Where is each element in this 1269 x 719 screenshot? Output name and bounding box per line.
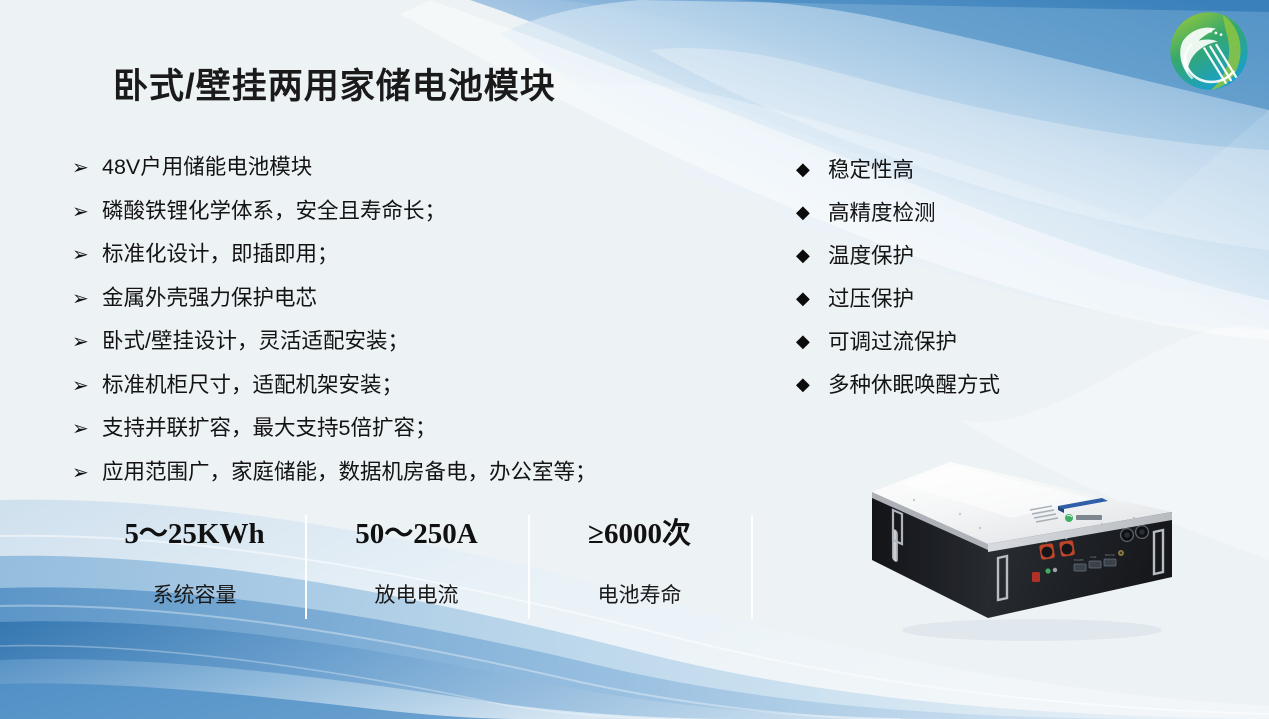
list-item: ➢ 48V户用储能电池模块	[72, 152, 712, 185]
list-item-label: 金属外壳强力保护电芯	[102, 283, 712, 313]
list-item: ◆ 稳定性高	[796, 155, 1126, 188]
list-item: ◆ 过压保护	[796, 284, 1126, 317]
stat-discharge-current: 50～250A 放电电流	[314, 512, 519, 614]
svg-text:+: +	[1064, 536, 1068, 542]
arrow-bullet-icon: ➢	[72, 370, 102, 400]
diamond-bullet-icon: ◆	[796, 370, 828, 400]
arrow-bullet-icon: ➢	[72, 413, 102, 443]
list-item: ◆ 可调过流保护	[796, 327, 1126, 360]
list-item-label: 稳定性高	[828, 155, 1126, 185]
stats-strip: 5～25KWh 系统容量 50～250A 放电电流 ≥6000次 电池寿命	[92, 512, 764, 620]
list-item-label: 过压保护	[828, 284, 1126, 314]
list-item: ➢ 支持并联扩容，最大支持5倍扩容；	[72, 413, 712, 446]
svg-text:RS232: RS232	[1105, 553, 1115, 557]
stat-label: 放电电流	[314, 578, 519, 614]
list-item-label: 磷酸铁锂化学体系，安全且寿命长；	[102, 196, 712, 226]
arrow-bullet-icon: ➢	[72, 239, 102, 269]
list-item-label: 应用范围广，家庭储能，数据机房备电，办公室等；	[102, 457, 712, 487]
stat-divider	[751, 515, 753, 619]
arrow-bullet-icon: ➢	[72, 326, 102, 356]
list-item: ◆ 高精度检测	[796, 198, 1126, 231]
list-item: ➢ 金属外壳强力保护电芯	[72, 283, 712, 316]
list-item: ◆ 温度保护	[796, 241, 1126, 274]
list-item-label: 支持并联扩容，最大支持5倍扩容；	[102, 413, 712, 443]
stat-label: 电池寿命	[537, 578, 742, 614]
svg-text:+: +	[1044, 539, 1048, 545]
list-item-label: 多种休眠唤醒方式	[828, 370, 1126, 400]
battery-module-photo: + + RS485 CAN RS2	[862, 440, 1192, 655]
svg-text:CAN: CAN	[1090, 555, 1096, 559]
arrow-bullet-icon: ➢	[72, 152, 102, 182]
arrow-bullet-icon: ➢	[72, 283, 102, 313]
stat-value: ≥6000次	[537, 512, 742, 556]
page-title: 卧式/壁挂两用家储电池模块	[113, 58, 556, 109]
list-item-label: 高精度检测	[828, 198, 1126, 228]
list-item: ➢ 磷酸铁锂化学体系，安全且寿命长；	[72, 196, 712, 229]
list-item-label: 卧式/壁挂设计，灵活适配安装；	[102, 326, 712, 356]
diamond-bullet-icon: ◆	[796, 198, 828, 228]
list-item: ◆ 多种休眠唤醒方式	[796, 370, 1126, 403]
feature-list-left: ➢ 48V户用储能电池模块 ➢ 磷酸铁锂化学体系，安全且寿命长； ➢ 标准化设计…	[72, 152, 712, 500]
company-logo	[1166, 8, 1252, 94]
stat-value: 50～250A	[314, 512, 519, 556]
stat-capacity: 5～25KWh 系统容量	[92, 512, 297, 614]
arrow-bullet-icon: ➢	[72, 457, 102, 487]
list-item-label: 标准机柜尺寸，适配机架安装；	[102, 370, 712, 400]
list-item: ➢ 卧式/壁挂设计，灵活适配安装；	[72, 326, 712, 359]
stat-cycle-life: ≥6000次 电池寿命	[537, 512, 742, 614]
stat-divider	[528, 515, 530, 619]
diamond-bullet-icon: ◆	[796, 241, 828, 271]
list-item: ➢ 标准机柜尺寸，适配机架安装；	[72, 370, 712, 403]
list-item-label: 48V户用储能电池模块	[102, 152, 712, 182]
list-item: ➢ 应用范围广，家庭储能，数据机房备电，办公室等；	[72, 457, 712, 490]
stat-divider	[305, 515, 307, 619]
diamond-bullet-icon: ◆	[796, 327, 828, 357]
slide-canvas: 卧式/壁挂两用家储电池模块 ➢ 48V户用储能电池模块 ➢ 磷酸铁锂化学体系，安…	[0, 0, 1269, 719]
list-item-label: 温度保护	[828, 241, 1126, 271]
arrow-bullet-icon: ➢	[72, 196, 102, 226]
svg-text:RS485: RS485	[1074, 558, 1084, 562]
diamond-bullet-icon: ◆	[796, 155, 828, 185]
stat-label: 系统容量	[92, 578, 297, 614]
list-item-label: 标准化设计，即插即用；	[102, 239, 712, 269]
stat-value: 5～25KWh	[92, 512, 297, 556]
feature-list-right: ◆ 稳定性高 ◆ 高精度检测 ◆ 温度保护 ◆ 过压保护 ◆ 可调过流保护 ◆ …	[796, 155, 1126, 413]
diamond-bullet-icon: ◆	[796, 284, 828, 314]
list-item: ➢ 标准化设计，即插即用；	[72, 239, 712, 272]
list-item-label: 可调过流保护	[828, 327, 1126, 357]
